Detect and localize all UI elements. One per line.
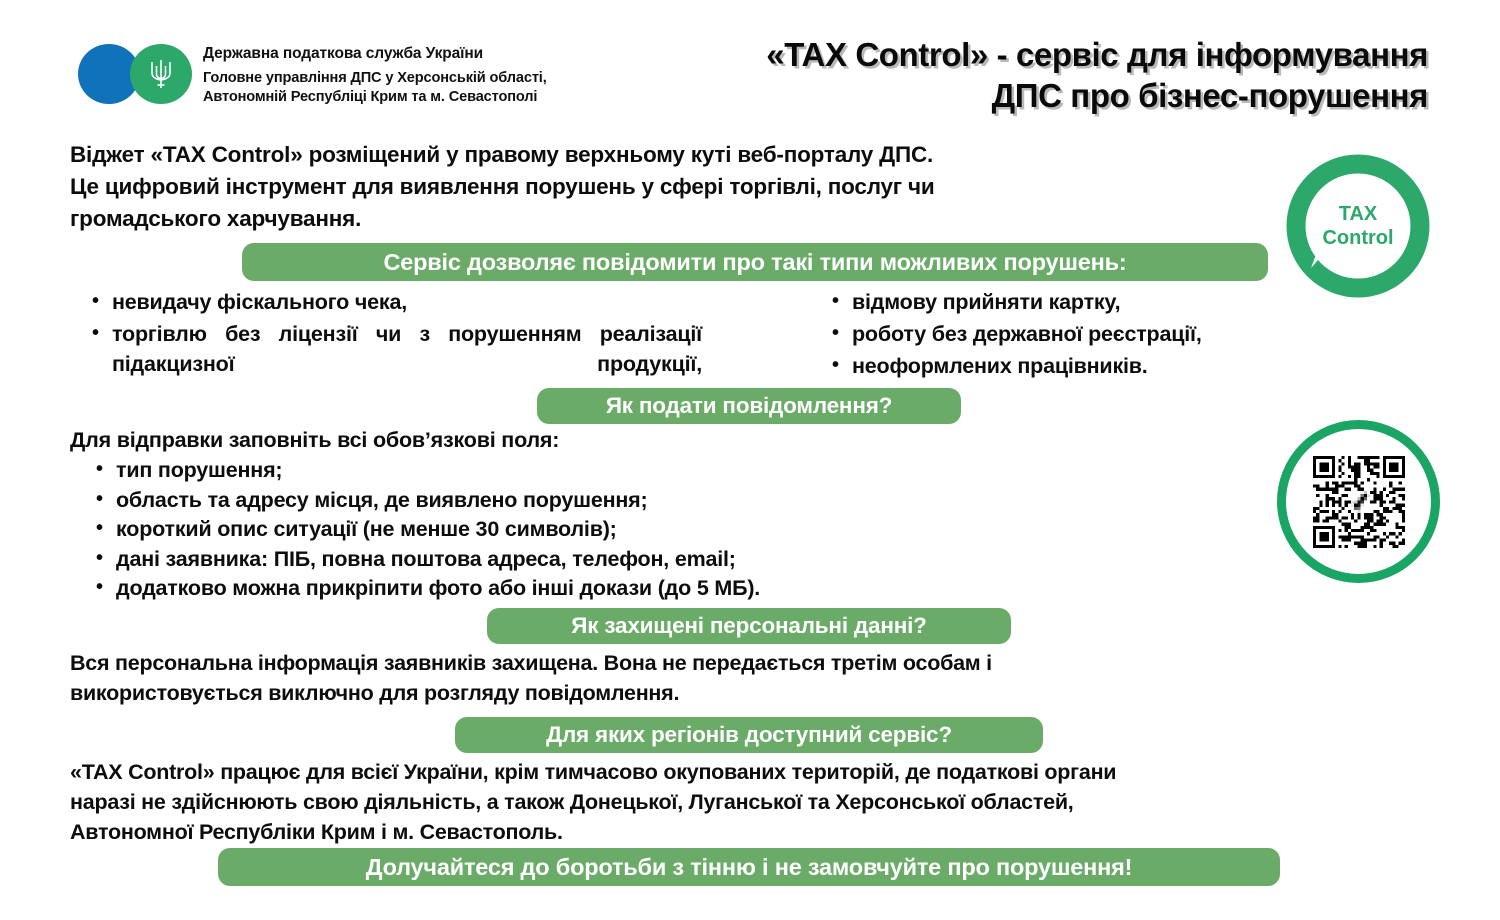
dps-logo <box>78 42 196 106</box>
banner-call-to-action: Долучайтеся до боротьби з тінню і не зам… <box>218 848 1280 886</box>
regions-line-1: «TAX Control» працює для всієї України, … <box>70 757 1433 787</box>
privacy-paragraph: Вся персональна інформація заявників зах… <box>70 648 1433 708</box>
privacy-line-2: використовується виключно для розгляду п… <box>70 678 1433 708</box>
page-title-line1: «TAX Control» - сервіс для інформування <box>568 34 1428 75</box>
list-item: додатково можна прикріпити фото або інші… <box>92 574 992 604</box>
intro-line-1: Віджет «TAX Control» розміщений у правом… <box>70 139 1275 171</box>
header: Державна податкова служба України Головн… <box>0 34 1500 120</box>
intro-line-3: громадського харчування. <box>70 203 1275 235</box>
submit-requirements-list: тип порушення; область та адресу місця, … <box>92 456 992 604</box>
list-item: область та адресу місця, де виявлено пор… <box>92 486 992 516</box>
bubble-text-tax: TAX <box>1339 203 1378 225</box>
list-item: тип порушення; <box>92 456 992 486</box>
banner-how-to-submit: Як подати повідомлення? <box>537 388 961 424</box>
list-item: невидачу фіскального чека, <box>86 287 702 317</box>
list-item: дані заявника: ПІБ, повна поштова адреса… <box>92 545 992 575</box>
list-item: відмову прийняти картку, <box>826 287 1286 317</box>
ukraine-trident-icon <box>148 57 174 91</box>
violations-column-right: відмову прийняти картку, роботу без держ… <box>826 287 1286 383</box>
page-title: «TAX Control» - сервіс для інформування … <box>568 34 1428 116</box>
privacy-line-1: Вся персональна інформація заявників зах… <box>70 648 1433 678</box>
regions-line-3: Автономної Республіки Крим і м. Севастоп… <box>70 817 1433 847</box>
intro-line-2: Це цифровий інструмент для виявлення пор… <box>70 171 1275 203</box>
list-item: неоформлених працівників. <box>826 351 1286 381</box>
banner-violation-types: Сервіс дозволяє повідомити про такі типи… <box>242 243 1268 281</box>
regions-paragraph: «TAX Control» працює для всієї України, … <box>70 757 1433 847</box>
org-name-secondary-line1: Головне управління ДПС у Херсонській обл… <box>203 69 623 88</box>
org-name-secondary-line2: Автономній Республіці Крим та м. Севасто… <box>203 88 623 107</box>
infographic-page: Державна податкова служба України Головн… <box>0 0 1500 920</box>
org-name-primary: Державна податкова служба України <box>203 44 623 64</box>
qr-code[interactable] <box>1313 456 1405 548</box>
submit-intro-text: Для відправки заповніть всі обов’язкові … <box>70 428 559 453</box>
list-item: короткий опис ситуації (не менше 30 симв… <box>92 515 992 545</box>
tax-control-bubble-logo: TAX Control <box>1284 152 1432 300</box>
intro-paragraph: Віджет «TAX Control» розміщений у правом… <box>70 139 1275 235</box>
list-item: роботу без державної реєстрації, <box>826 319 1286 349</box>
banner-privacy: Як захищені персональні данні? <box>487 608 1011 644</box>
banner-regions: Для яких регіонів доступний сервіс? <box>455 717 1043 753</box>
bubble-text-control: Control <box>1322 227 1393 249</box>
org-name-block: Державна податкова служба України Головн… <box>203 44 623 107</box>
qr-code-badge[interactable] <box>1277 420 1440 583</box>
logo-green-circle-icon <box>130 44 192 104</box>
regions-line-2: наразі не здійснюють свою діяльність, а … <box>70 787 1433 817</box>
page-title-line2: ДПС про бізнес-порушення <box>568 75 1428 116</box>
